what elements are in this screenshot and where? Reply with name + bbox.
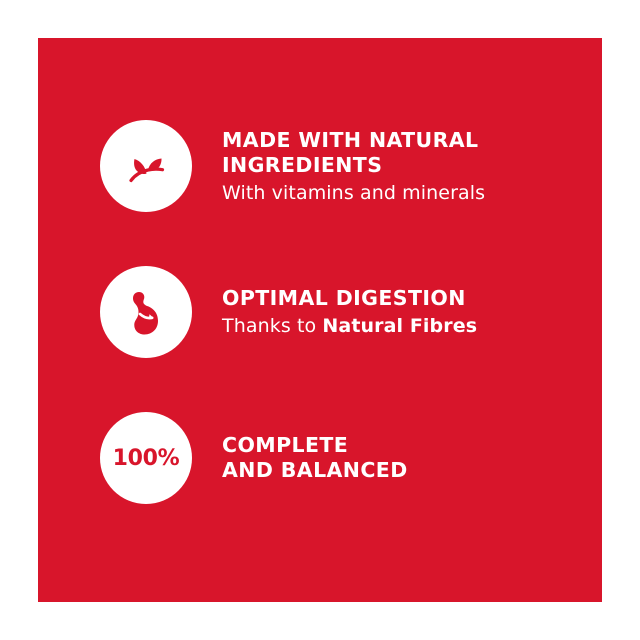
feature-list: MADE WITH NATURAL INGREDIENTS With vitam…	[38, 38, 602, 602]
feature-item-complete-balanced: 100% COMPLETE AND BALANCED	[100, 412, 408, 504]
percent-text-icon: 100%	[113, 446, 180, 471]
feature-text-2: OPTIMAL DIGESTION Thanks to Natural Fibr…	[222, 286, 477, 338]
feature-subtitle-lead-2: Thanks to	[222, 315, 322, 337]
feature-panel-image: MADE WITH NATURAL INGREDIENTS With vitam…	[0, 0, 640, 640]
feature-subtitle-bold-2: Natural Fibres	[322, 315, 477, 337]
feature-item-natural-ingredients: MADE WITH NATURAL INGREDIENTS With vitam…	[100, 120, 485, 212]
feature-text-1: MADE WITH NATURAL INGREDIENTS With vitam…	[222, 128, 485, 205]
feature-subtitle-1: With vitamins and minerals	[222, 181, 485, 205]
badge-circle-1	[100, 120, 192, 212]
feature-subtitle-lead-1: With vitamins and minerals	[222, 182, 485, 204]
badge-circle-2	[100, 266, 192, 358]
feature-title-2: OPTIMAL DIGESTION	[222, 286, 477, 311]
feature-subtitle-2: Thanks to Natural Fibres	[222, 314, 477, 338]
feature-text-3: COMPLETE AND BALANCED	[222, 433, 408, 483]
badge-circle-3: 100%	[100, 412, 192, 504]
feature-item-optimal-digestion: OPTIMAL DIGESTION Thanks to Natural Fibr…	[100, 266, 477, 358]
sprout-plant-icon	[119, 139, 173, 193]
feature-title-3: COMPLETE AND BALANCED	[222, 433, 408, 483]
feature-title-1: MADE WITH NATURAL INGREDIENTS	[222, 128, 485, 178]
stomach-digestion-icon	[118, 284, 174, 340]
red-panel: MADE WITH NATURAL INGREDIENTS With vitam…	[38, 38, 602, 602]
